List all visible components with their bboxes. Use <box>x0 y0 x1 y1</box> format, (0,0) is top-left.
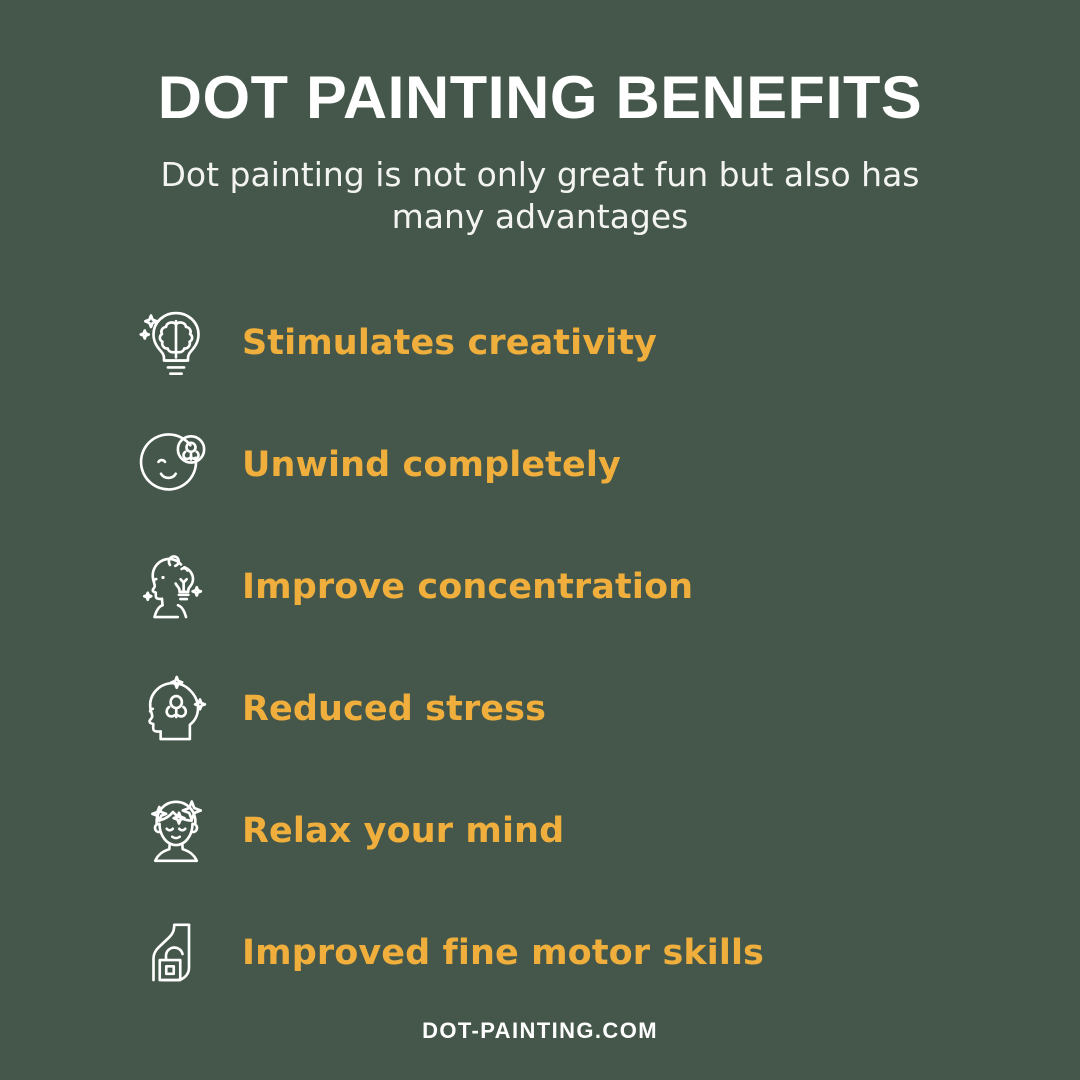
benefit-label: Reduced stress <box>242 692 546 727</box>
smiling-face-flower-icon <box>134 423 218 507</box>
hand-holding-object-icon <box>134 911 218 995</box>
list-item: Reduced stress <box>134 648 1080 770</box>
website-url: DOT-PAINTING.COM <box>422 1018 658 1043</box>
benefit-label: Relax your mind <box>242 814 564 849</box>
lightbulb-brain-sparkle-icon <box>134 301 218 385</box>
list-item: Relax your mind <box>134 770 1080 892</box>
list-item: Stimulates creativity <box>134 282 1080 404</box>
poster-header: DOT PAINTING BENEFITS Dot painting is no… <box>0 0 1080 238</box>
benefit-label: Improve concentration <box>242 570 693 605</box>
head-profile-lightbulb-icon <box>134 545 218 629</box>
list-item: Improved fine motor skills <box>134 892 1080 1014</box>
list-item: Unwind completely <box>134 404 1080 526</box>
benefit-label: Improved fine motor skills <box>242 936 764 971</box>
page-subtitle: Dot painting is not only great fun but a… <box>125 154 955 238</box>
calm-face-sparkles-icon <box>134 789 218 873</box>
list-item: Improve concentration <box>134 526 1080 648</box>
infographic-poster: DOT PAINTING BENEFITS Dot painting is no… <box>0 0 1080 1080</box>
poster-footer: DOT-PAINTING.COM <box>0 1018 1080 1044</box>
benefits-list: Stimulates creativity Unwind completely <box>0 282 1080 1014</box>
page-title: DOT PAINTING BENEFITS <box>0 68 1080 128</box>
head-profile-lotus-icon <box>134 667 218 751</box>
benefit-label: Unwind completely <box>242 448 621 483</box>
benefit-label: Stimulates creativity <box>242 326 657 361</box>
